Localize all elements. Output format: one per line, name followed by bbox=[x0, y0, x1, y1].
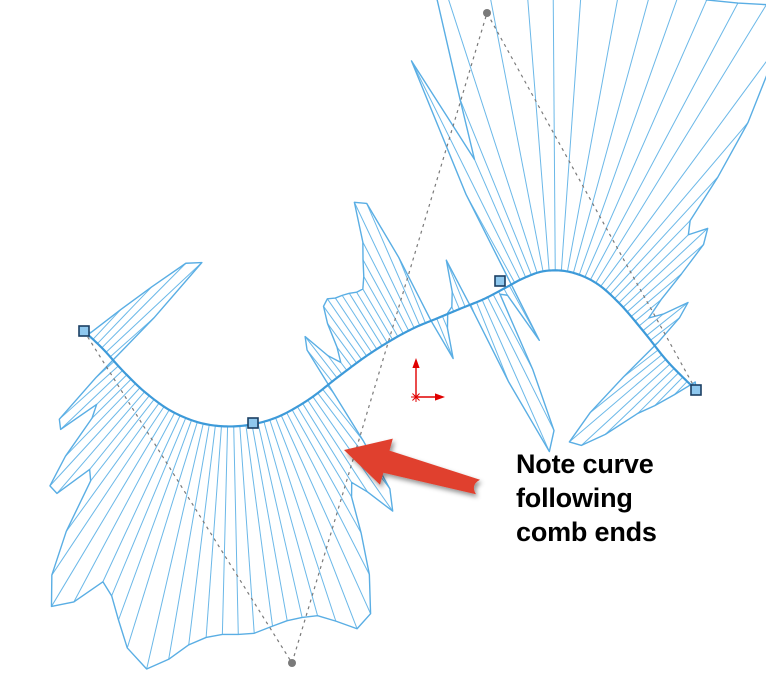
comb-hair bbox=[619, 235, 688, 303]
comb-hair bbox=[234, 426, 239, 634]
origin-x-arrowhead bbox=[435, 393, 445, 400]
origin-y-arrowhead bbox=[412, 358, 419, 368]
comb-hair bbox=[623, 228, 708, 307]
red-annotation-arrow bbox=[344, 439, 480, 495]
control-polygon bbox=[84, 13, 696, 663]
comb-hair bbox=[303, 403, 352, 482]
comb-hair bbox=[297, 407, 351, 497]
comb-hair bbox=[442, 316, 447, 328]
polygon-vertex-top[interactable] bbox=[483, 9, 491, 17]
comb-hair bbox=[596, 5, 766, 283]
comb-hair bbox=[615, 221, 691, 299]
comb-hair bbox=[252, 424, 287, 620]
comb-hair bbox=[324, 306, 362, 359]
control-point-3[interactable] bbox=[495, 276, 505, 286]
comb-hair bbox=[647, 302, 688, 335]
comb-hair bbox=[169, 425, 210, 659]
comb-hair bbox=[327, 299, 366, 356]
cad-canvas[interactable]: Note curve following comb ends bbox=[0, 0, 766, 682]
comb-hair bbox=[639, 318, 649, 326]
polygon-vertex-bottom[interactable] bbox=[288, 659, 296, 667]
control-point-start[interactable] bbox=[79, 326, 89, 336]
control-point-handles[interactable] bbox=[79, 276, 701, 428]
comb-hair bbox=[605, 369, 674, 435]
comb-hair bbox=[206, 426, 221, 637]
comb-hair bbox=[573, 0, 664, 273]
comb-hair bbox=[590, 3, 738, 280]
comb-hair bbox=[437, 319, 453, 359]
comb-hair bbox=[585, 0, 707, 277]
comb-hair bbox=[147, 424, 204, 669]
curvature-comb-graphic bbox=[0, 0, 766, 682]
comb-hair bbox=[93, 310, 121, 340]
comb-hair bbox=[569, 360, 665, 442]
origin-axis-marker bbox=[411, 358, 445, 402]
comb-hair bbox=[610, 177, 718, 295]
control-point-end[interactable] bbox=[691, 385, 701, 395]
comb-hair bbox=[623, 350, 658, 377]
comb-hair bbox=[65, 384, 135, 457]
comb-hair bbox=[222, 426, 227, 634]
comb-hair bbox=[61, 370, 123, 429]
comb-hair bbox=[97, 375, 127, 405]
comb-hair bbox=[335, 298, 371, 352]
comb-hair bbox=[601, 44, 766, 286]
comb-hair bbox=[102, 263, 186, 348]
comb-hair bbox=[341, 362, 347, 370]
comb-hair bbox=[398, 257, 425, 323]
comb-hair bbox=[638, 373, 679, 413]
comb-hair bbox=[357, 292, 388, 342]
comb-hair bbox=[264, 422, 318, 616]
comb-hair bbox=[106, 263, 202, 353]
annotation-label: Note curve following comb ends bbox=[516, 447, 756, 549]
comb-hair bbox=[363, 289, 393, 340]
origin-star-ray bbox=[412, 397, 416, 401]
comb-hair bbox=[482, 300, 549, 452]
control-point-2[interactable] bbox=[248, 418, 258, 428]
curvature-comb-hairs bbox=[50, 0, 766, 669]
comb-hair bbox=[488, 297, 554, 430]
comb-hair bbox=[474, 159, 525, 277]
comb-hair bbox=[553, 0, 556, 270]
comb-hair bbox=[631, 274, 681, 317]
comb-hair bbox=[276, 418, 357, 629]
comb-hair bbox=[363, 260, 403, 334]
comb-hair bbox=[308, 400, 368, 492]
comb-hair bbox=[246, 425, 273, 626]
comb-hair bbox=[50, 388, 140, 486]
comb-hair bbox=[452, 292, 459, 309]
comb-hair bbox=[409, 0, 537, 273]
comb-hair bbox=[627, 244, 703, 311]
comb-hair bbox=[240, 426, 254, 633]
red-annotation-arrow bbox=[344, 439, 480, 495]
